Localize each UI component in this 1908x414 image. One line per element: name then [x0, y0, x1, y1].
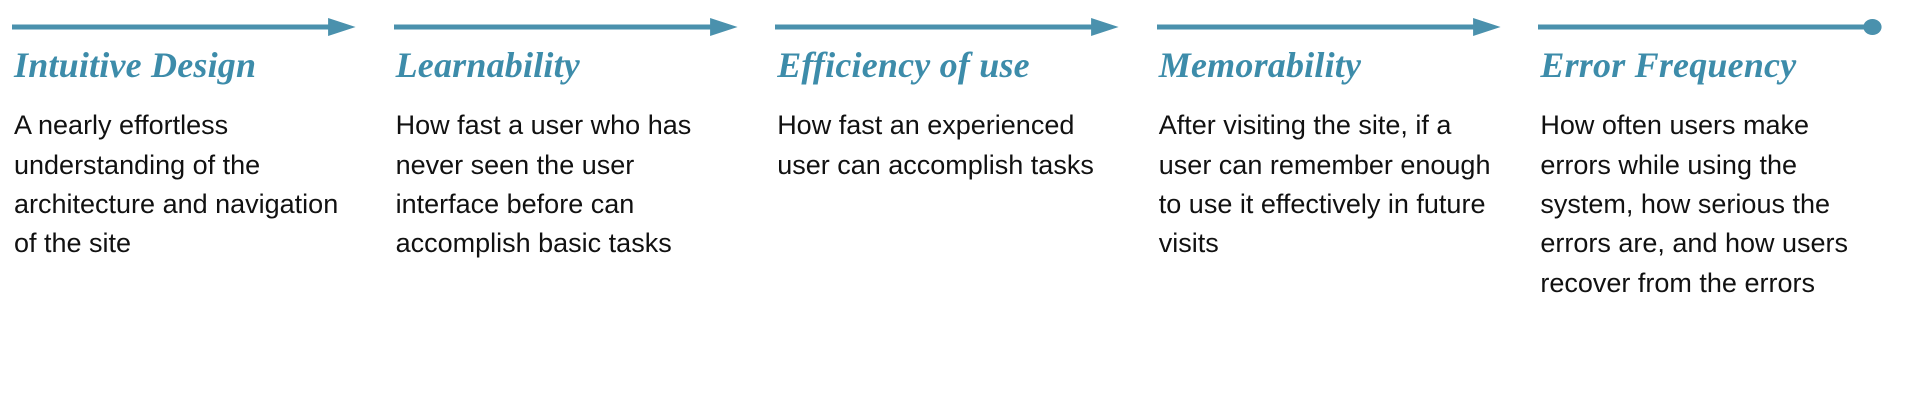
connector-arrow-3: [775, 14, 1119, 40]
column-intuitive-design: Intuitive Design A nearly effortless und…: [0, 0, 382, 264]
connector-arrow-4: [1157, 14, 1501, 40]
usability-dimensions-diagram: Intuitive Design A nearly effortless und…: [0, 0, 1908, 414]
column-description: After visiting the site, if a user can r…: [1159, 106, 1501, 264]
arrow-right-icon: [12, 14, 356, 40]
column-heading: Memorability: [1159, 46, 1361, 84]
arrow-right-icon: [1157, 14, 1501, 40]
column-efficiency-of-use: Efficiency of use How fast an experience…: [763, 0, 1145, 185]
column-description: A nearly effortless understanding of the…: [14, 106, 356, 264]
arrow-right-icon: [775, 14, 1119, 40]
connector-arrow-5: [1538, 14, 1882, 40]
column-heading: Error Frequency: [1540, 46, 1796, 84]
column-description: How often users make errors while using …: [1540, 106, 1882, 303]
column-error-frequency: Error Frequency How often users make err…: [1526, 0, 1908, 303]
arrow-right-dot-icon: [1538, 14, 1882, 40]
connector-arrow-1: [12, 14, 356, 40]
column-learnability: Learnability How fast a user who has nev…: [382, 0, 764, 264]
column-description: How fast an experienced user can accompl…: [777, 106, 1119, 185]
column-heading: Efficiency of use: [777, 46, 1030, 84]
column-heading: Learnability: [396, 46, 580, 84]
arrow-right-icon: [394, 14, 738, 40]
column-description: How fast a user who has never seen the u…: [396, 106, 738, 264]
connector-arrow-2: [394, 14, 738, 40]
column-memorability: Memorability After visiting the site, if…: [1145, 0, 1527, 264]
column-heading: Intuitive Design: [14, 46, 256, 84]
